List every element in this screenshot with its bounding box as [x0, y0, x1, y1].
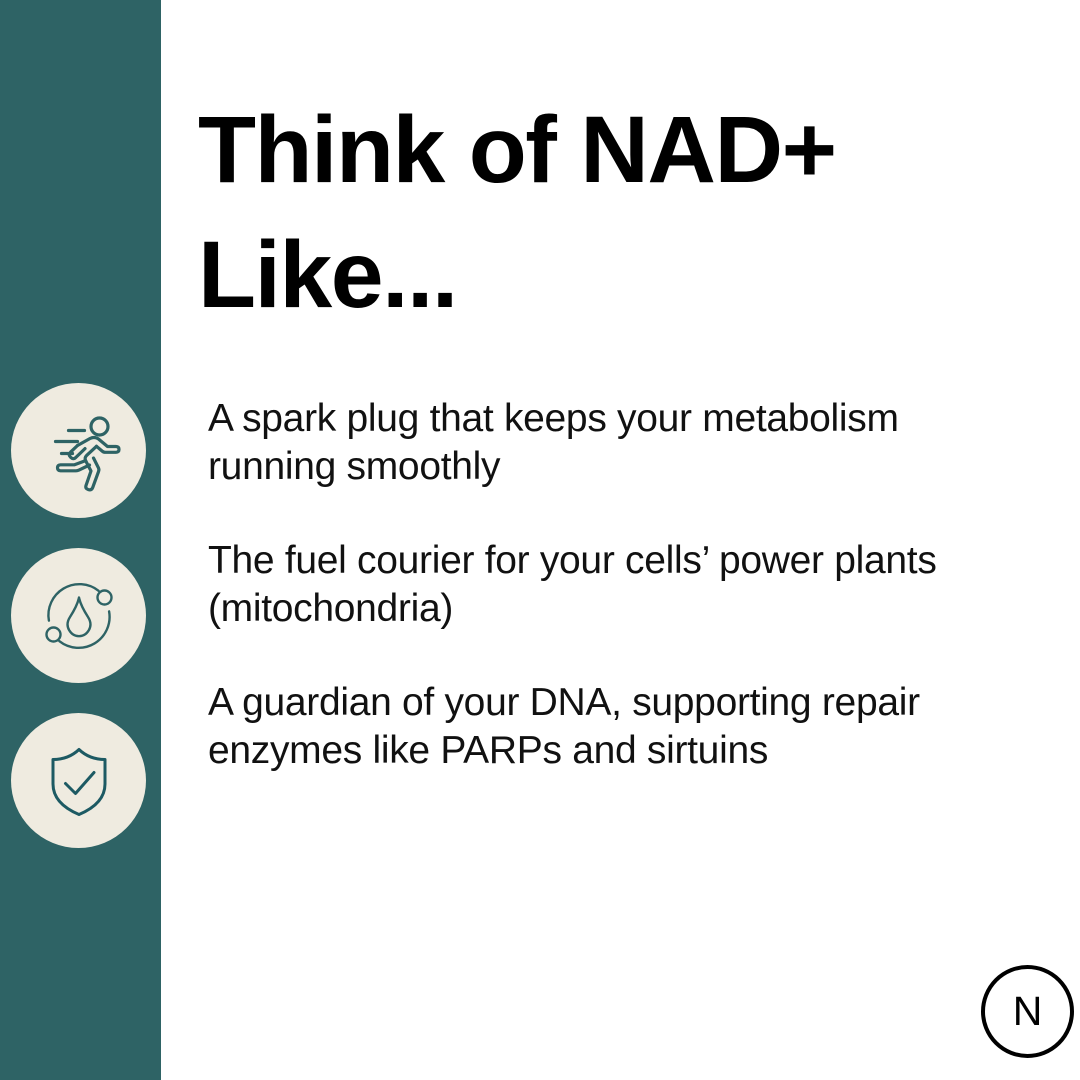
bullet-item-3: A guardian of your DNA, supporting repai…	[208, 679, 1028, 774]
running-person-icon	[36, 408, 122, 494]
icon-badge-shield	[11, 713, 146, 848]
bullet-item-2: The fuel courier for your cells’ power p…	[208, 537, 1028, 632]
icon-badge-running	[11, 383, 146, 518]
slide-canvas: Think of NAD+ Like... A spark plug that …	[0, 0, 1080, 1080]
shield-check-icon	[36, 738, 122, 824]
content-area: Think of NAD+ Like... A spark plug that …	[161, 0, 1080, 1080]
sidebar	[0, 0, 161, 1080]
brand-letter: N	[1013, 991, 1043, 1032]
bullet-item-1: A spark plug that keeps your metabolism …	[208, 395, 1028, 490]
page-title: Think of NAD+ Like...	[198, 88, 1043, 339]
droplet-orbit-icon	[36, 573, 122, 659]
bullet-list: A spark plug that keeps your metabolism …	[208, 395, 1028, 774]
icon-badge-droplet	[11, 548, 146, 683]
icon-stack	[11, 383, 146, 878]
circle-n-logo-icon: N	[981, 965, 1074, 1058]
